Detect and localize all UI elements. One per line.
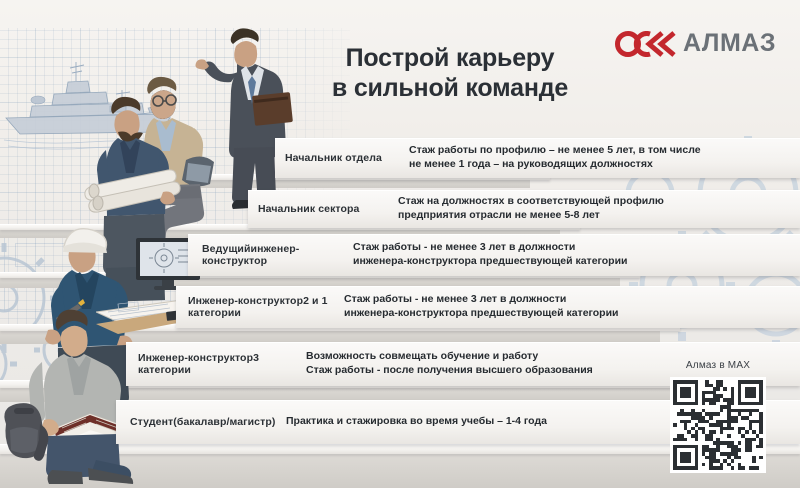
ladder-step-role: Начальник сектора — [248, 203, 388, 215]
career-ladder-poster: Построй карьеру в сильной команде АЛМАЗ … — [0, 0, 800, 488]
page-title: Построй карьеру в сильной команде — [290, 44, 610, 103]
ladder-step-role: Студент(бакалавр/магистр) — [116, 416, 276, 428]
qr-code-image[interactable] — [670, 377, 766, 473]
ladder-step-role: Инженер-конструктор3 категории — [126, 352, 296, 377]
requirement-line: Стаж работы по профилю – не менее 5 лет,… — [409, 144, 800, 158]
ladder-step-vedushchiy-inzhener[interactable]: Ведущийинженер-конструктор Стаж работы -… — [188, 234, 800, 276]
osk-mark-icon — [614, 31, 676, 57]
company-logo: АЛМАЗ — [614, 29, 776, 58]
qr-modules — [673, 380, 763, 470]
title-line-1: Построй карьеру — [290, 44, 610, 74]
requirement-line: инженера-конструктора предшествующей кат… — [344, 307, 800, 321]
ladder-step-requirements: Стаж работы - не менее 3 лет в должности… — [334, 293, 800, 321]
requirement-line: Стаж работы - не менее 3 лет в должности — [353, 241, 800, 255]
qr-code-block[interactable]: Алмаз в MAX — [660, 360, 776, 473]
ladder-step-role: Инженер-конструктор2 и 1 категории — [176, 295, 334, 320]
ladder-step-nachalnik-sektora[interactable]: Начальник сектора Стаж на должностях в с… — [248, 190, 800, 228]
title-line-2: в сильной команде — [290, 74, 610, 104]
requirement-line: не менее 1 года – на руководящих должнос… — [409, 158, 800, 172]
requirement-line: инженера-конструктора предшествующей кат… — [353, 255, 800, 269]
requirement-line: предприятия отрасли не менее 5-8 лет — [398, 209, 800, 223]
ladder-step-inzhener-2-1-kategorii[interactable]: Инженер-конструктор2 и 1 категории Стаж … — [176, 286, 800, 328]
almaz-wordmark: АЛМАЗ — [683, 29, 776, 58]
osk-logomark — [614, 31, 676, 57]
requirement-line: Стаж на должностях в соответствующей про… — [398, 195, 800, 209]
ladder-step-requirements: Стаж работы по профилю – не менее 5 лет,… — [395, 144, 800, 172]
ladder-step-requirements: Стаж работы - не менее 3 лет в должности… — [343, 241, 800, 269]
ladder-step-role: Ведущийинженер-конструктор — [188, 243, 343, 268]
ladder-step-nachalnik-otdela[interactable]: Начальник отдела Стаж работы по профилю … — [275, 138, 800, 178]
ladder-step-role: Начальник отдела — [275, 152, 395, 164]
ladder-step-requirements: Стаж на должностях в соответствующей про… — [388, 195, 800, 223]
qr-caption: Алмаз в MAX — [660, 360, 776, 371]
requirement-line: Стаж работы - не менее 3 лет в должности — [344, 293, 800, 307]
